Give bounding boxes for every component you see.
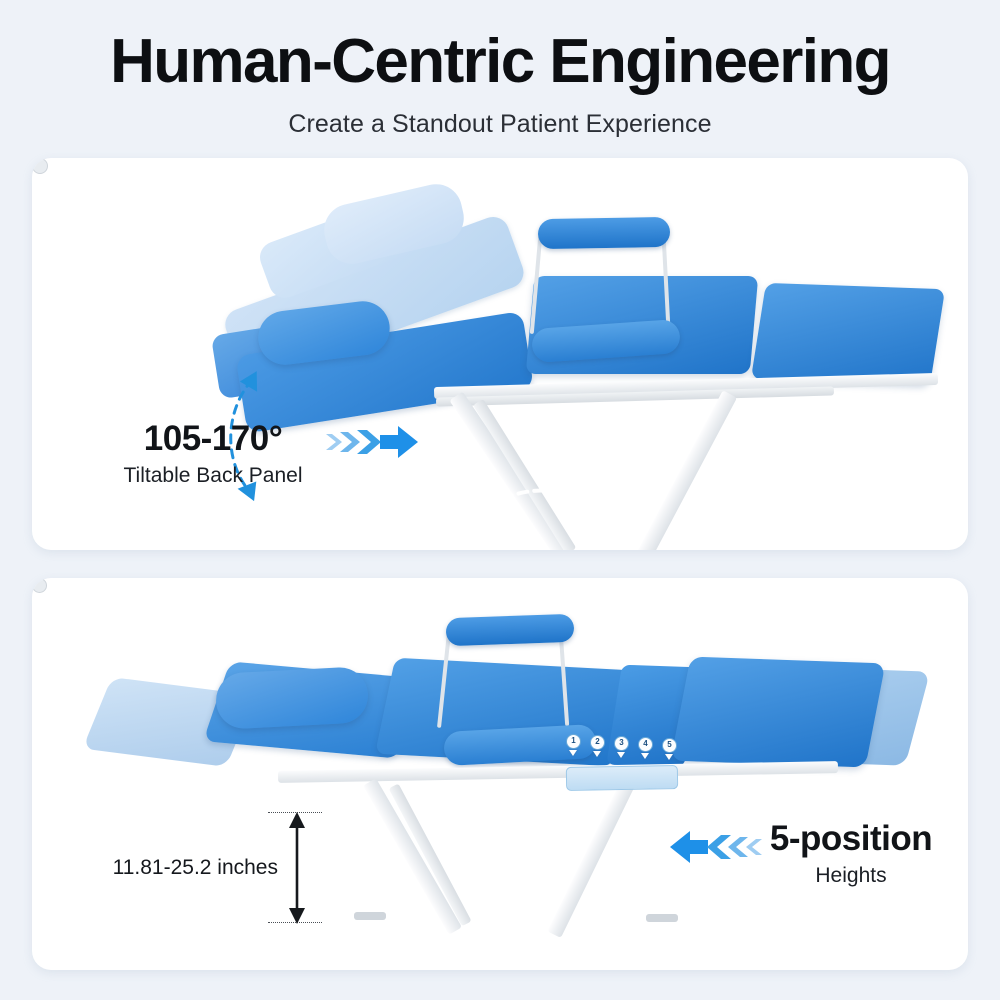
scissor-leg-inner [389, 783, 472, 926]
scissor-pivot-bolt [32, 578, 47, 593]
height-position-strip [566, 765, 678, 791]
page-title: Human-Centric Engineering [0, 26, 1000, 98]
position-marker-4: 4 [638, 737, 651, 759]
feature-card-tiltable-back-panel [32, 158, 968, 550]
vertical-double-arrow-icon [286, 812, 308, 924]
pointer-down-icon [641, 753, 649, 759]
base-foot-right [646, 914, 678, 922]
leg-rest-cushion [671, 657, 886, 768]
height-feature-label: Heights [736, 862, 966, 890]
feature-annotation-heights: 5-position Heights [736, 818, 966, 890]
scissor-leg-right [547, 777, 636, 938]
chevron-arrow-right-icon [324, 420, 420, 464]
headrest-pad [538, 217, 671, 249]
height-range-label: 11.81-25.2 inches [82, 854, 278, 882]
headrest-pad [446, 614, 575, 646]
position-marker-2: 2 [590, 735, 603, 757]
base-foot-left [354, 912, 386, 920]
position-marker-5: 5 [662, 738, 675, 760]
page-header: Human-Centric Engineering Create a Stand… [0, 0, 1000, 152]
tilt-feature-label: Tiltable Back Panel [88, 462, 338, 490]
product-illustration-heights: 1 2 3 4 5 [32, 578, 968, 970]
feature-card-5-position-heights: 1 2 3 4 5 [32, 578, 968, 970]
head-pillow [215, 666, 370, 730]
support-rail [278, 761, 838, 783]
height-position-markers: 1 2 3 4 5 [566, 734, 686, 768]
tilt-range-value: 105-170° [88, 418, 338, 460]
position-marker-1: 1 [566, 734, 579, 756]
pointer-down-icon [569, 750, 577, 756]
chevron-arrow-left-icon [668, 826, 764, 868]
leg-rest-cushion [751, 283, 945, 385]
product-illustration-tilt [32, 158, 968, 550]
pointer-down-icon [593, 751, 601, 757]
scissor-leg-right [631, 390, 737, 550]
page-subtitle: Create a Standout Patient Experience [0, 108, 1000, 140]
pointer-down-icon [665, 754, 673, 760]
position-marker-3: 3 [614, 736, 627, 758]
armrest-swing-arc-icon [462, 476, 632, 546]
pointer-down-icon [617, 752, 625, 758]
feature-annotation-tilt: 105-170° Tiltable Back Panel [88, 418, 338, 490]
scissor-pivot-bolt [32, 158, 48, 174]
height-positions-value: 5-position [736, 818, 966, 860]
